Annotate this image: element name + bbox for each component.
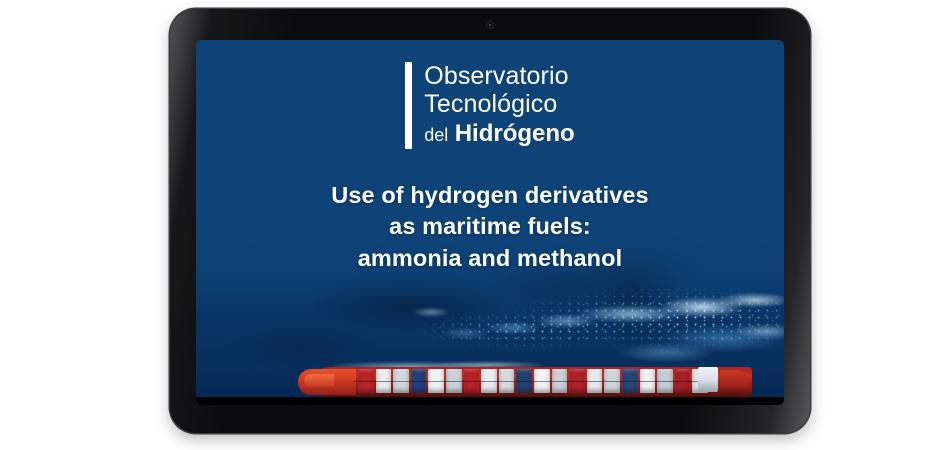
logo-vertical-bar-icon <box>405 62 412 149</box>
tablet-device: Observatorio Tecnológico del Hidrógeno U… <box>170 9 810 433</box>
container-ship <box>314 363 752 397</box>
slide-title-line-1: Use of hydrogen derivatives <box>196 180 784 211</box>
screen-letterbox <box>196 397 784 405</box>
tablet-screen[interactable]: Observatorio Tecnológico del Hidrógeno U… <box>196 40 784 405</box>
logo-word-hidrogeno: Hidrógeno <box>455 120 575 147</box>
slide-title-line-3: ammonia and methanol <box>196 243 784 274</box>
brand-logo: Observatorio Tecnológico del Hidrógeno <box>196 62 784 149</box>
ambient-light-sensor-icon <box>181 210 186 215</box>
ship-deck-line <box>354 381 712 383</box>
slide-title: Use of hydrogen derivatives as maritime … <box>196 180 784 274</box>
logo-text: Observatorio Tecnológico del Hidrógeno <box>424 62 574 149</box>
slide-title-line-2: as maritime fuels: <box>196 211 784 242</box>
logo-line-tecnologico: Tecnológico <box>424 90 574 118</box>
logo-line-del-hidrogeno: del Hidrógeno <box>424 120 574 149</box>
ship-stern <box>720 370 748 394</box>
front-camera-icon <box>487 22 493 28</box>
logo-word-del: del <box>424 125 448 145</box>
logo-line-observatorio: Observatorio <box>424 62 574 90</box>
ship-superstructure <box>698 367 718 392</box>
ship-bow <box>298 369 356 395</box>
